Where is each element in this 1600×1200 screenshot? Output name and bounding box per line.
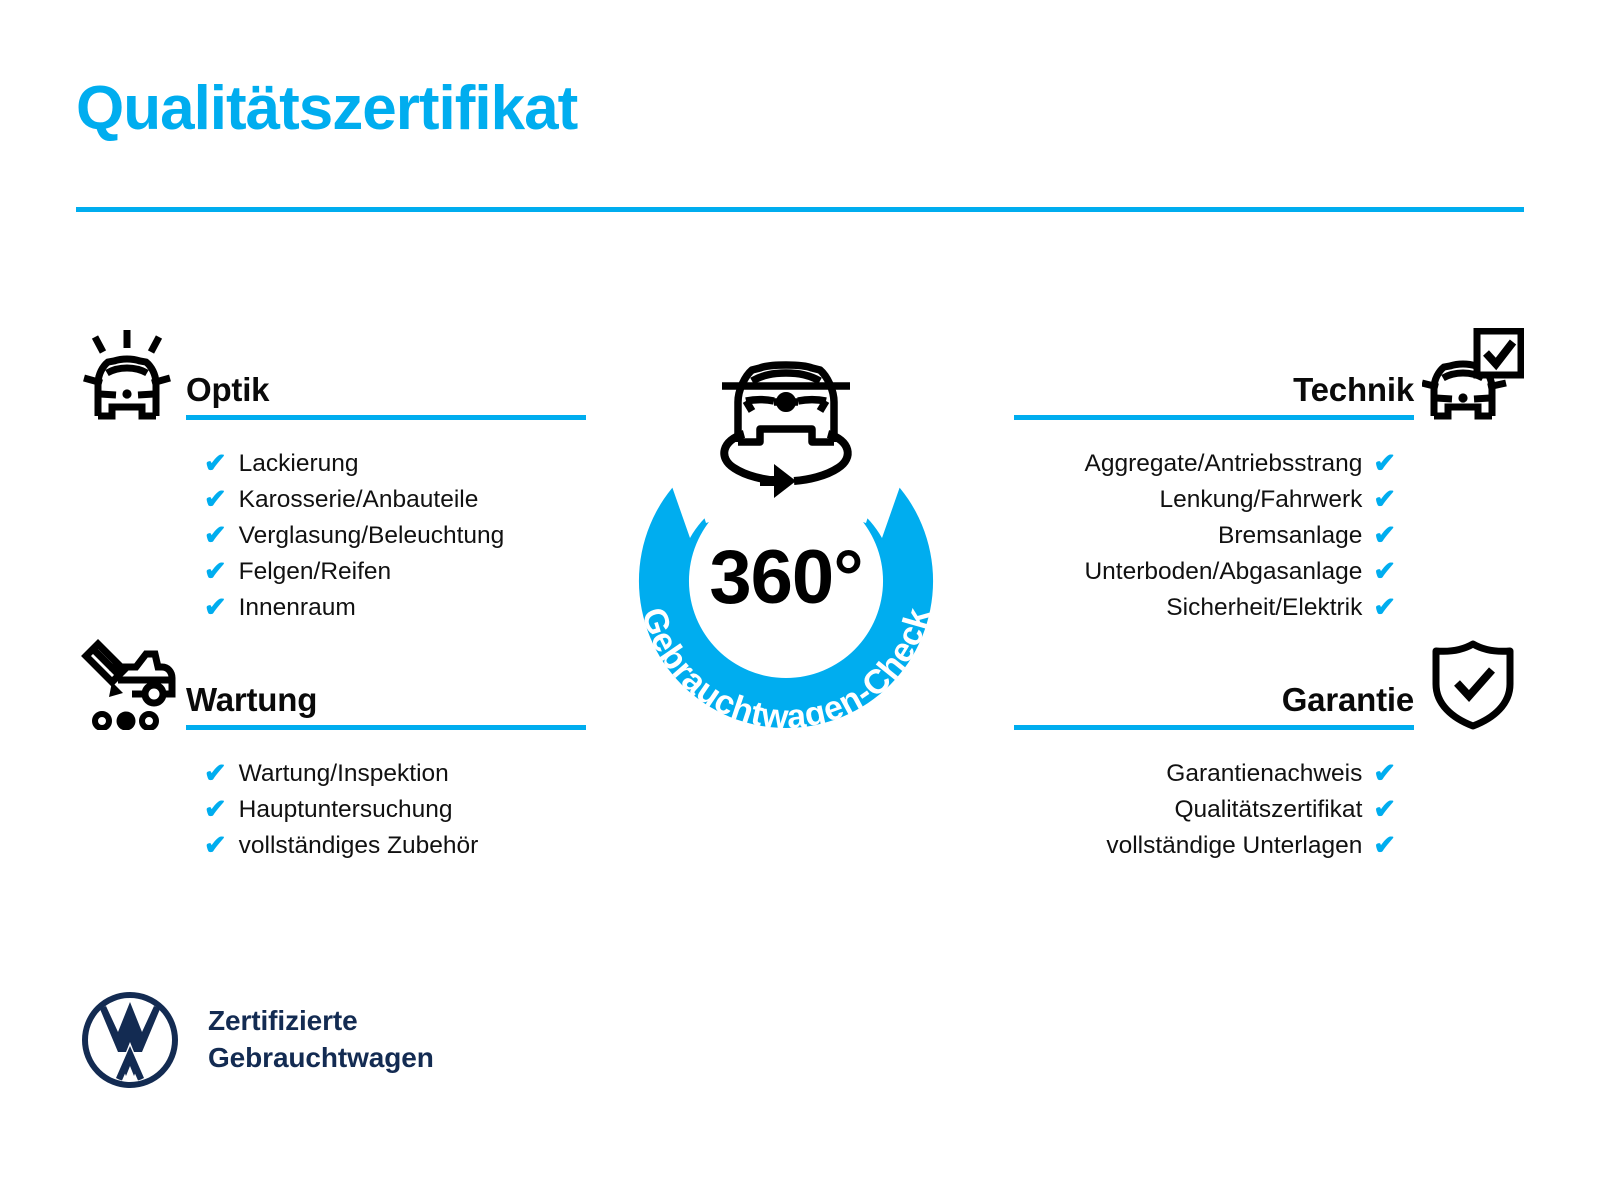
section-underline [1014, 415, 1414, 420]
section-underline [186, 725, 586, 730]
list-item: ✔Unterboden/Abgasanlage [1014, 554, 1396, 590]
badge-360-gebrauchtwagen-check: Gebrauchtwagen-Check 360° [566, 308, 1006, 778]
list-item-label: vollständige Unterlagen [1106, 834, 1362, 859]
list-item-label: Hauptuntersuchung [239, 798, 453, 823]
list-item: ✔Innenraum [204, 590, 586, 626]
list-item: ✔vollständige Unterlagen [1014, 828, 1396, 864]
check-icon: ✔ [204, 796, 227, 823]
list-item: ✔Garantienachweis [1014, 756, 1396, 792]
technik-list: ✔Aggregate/Antriebsstrang ✔Lenkung/Fahrw… [1014, 446, 1524, 626]
list-item-label: Aggregate/Antriebsstrang [1085, 452, 1363, 477]
check-icon: ✔ [204, 558, 227, 585]
section-garantie: Garantie ✔Garantienachweis ✔Qualitätszer… [1014, 630, 1524, 864]
page-title: Qualitätszertifikat [76, 76, 577, 141]
list-item: ✔Lackierung [204, 446, 586, 482]
section-title: Optik [186, 373, 586, 415]
check-icon: ✔ [1373, 760, 1396, 787]
check-icon: ✔ [204, 486, 227, 513]
section-technik: Technik ✔Aggregate/Antriebsstrang ✔Lenku… [1014, 320, 1524, 626]
check-icon: ✔ [204, 760, 227, 787]
shield-check-icon [1414, 630, 1524, 730]
list-item: ✔Wartung/Inspektion [204, 756, 586, 792]
list-item: ✔Felgen/Reifen [204, 554, 586, 590]
section-title: Garantie [1014, 683, 1414, 725]
pencil-car-service-icon [76, 630, 186, 730]
volkswagen-logo [80, 990, 180, 1090]
list-item-label: Karosserie/Anbauteile [239, 488, 479, 513]
list-item-label: Lackierung [239, 452, 359, 477]
check-icon: ✔ [1373, 522, 1396, 549]
check-icon: ✔ [204, 450, 227, 477]
list-item-label: Verglasung/Beleuchtung [239, 524, 505, 549]
list-item-label: Innenraum [239, 596, 356, 621]
check-icon: ✔ [1373, 832, 1396, 859]
list-item: ✔Lenkung/Fahrwerk [1014, 482, 1396, 518]
wartung-list: ✔Wartung/Inspektion ✔Hauptuntersuchung ✔… [76, 756, 586, 864]
check-icon: ✔ [1373, 450, 1396, 477]
check-icon: ✔ [204, 522, 227, 549]
list-item: ✔Karosserie/Anbauteile [204, 482, 586, 518]
check-icon: ✔ [1373, 594, 1396, 621]
list-item-label: Unterboden/Abgasanlage [1084, 560, 1362, 585]
list-item-label: Sicherheit/Elektrik [1166, 596, 1362, 621]
check-icon: ✔ [1373, 486, 1396, 513]
footer-line-1: Zertifizierte [208, 1005, 358, 1036]
list-item: ✔Qualitätszertifikat [1014, 792, 1396, 828]
section-optik: Optik ✔Lackierung ✔Karosserie/Anbauteile… [76, 320, 586, 626]
section-underline [1014, 725, 1414, 730]
list-item-label: Qualitätszertifikat [1174, 798, 1362, 823]
section-title: Technik [1014, 373, 1414, 415]
footer-brand-text: Zertifizierte Gebrauchtwagen [208, 1003, 434, 1077]
section-wartung: Wartung ✔Wartung/Inspektion ✔Hauptunters… [76, 630, 586, 864]
list-item-label: Bremsanlage [1218, 524, 1362, 549]
list-item: ✔vollständiges Zubehör [204, 828, 586, 864]
list-item-label: Wartung/Inspektion [239, 762, 449, 787]
check-icon: ✔ [204, 594, 227, 621]
garantie-list: ✔Garantienachweis ✔Qualitätszertifikat ✔… [1014, 756, 1524, 864]
section-title: Wartung [186, 683, 586, 725]
check-icon: ✔ [1373, 558, 1396, 585]
car-checkbox-icon [1414, 320, 1524, 420]
list-item: ✔Bremsanlage [1014, 518, 1396, 554]
list-item-label: Garantienachweis [1166, 762, 1362, 787]
check-icon: ✔ [204, 832, 227, 859]
list-item: ✔Hauptuntersuchung [204, 792, 586, 828]
badge-center-label: 360° [709, 535, 862, 620]
optik-list: ✔Lackierung ✔Karosserie/Anbauteile ✔Verg… [76, 446, 586, 626]
list-item-label: Felgen/Reifen [239, 560, 392, 585]
check-icon: ✔ [1373, 796, 1396, 823]
list-item-label: vollständiges Zubehör [239, 834, 479, 859]
list-item: ✔Aggregate/Antriebsstrang [1014, 446, 1396, 482]
footer-brand-logo: Zertifizierte Gebrauchtwagen [80, 990, 434, 1090]
header-divider [76, 207, 1524, 212]
footer-line-2: Gebrauchtwagen [208, 1042, 434, 1073]
list-item: ✔Sicherheit/Elektrik [1014, 590, 1396, 626]
section-underline [186, 415, 586, 420]
car-front-shine-icon [76, 320, 186, 420]
list-item: ✔Verglasung/Beleuchtung [204, 518, 586, 554]
list-item-label: Lenkung/Fahrwerk [1159, 488, 1362, 513]
